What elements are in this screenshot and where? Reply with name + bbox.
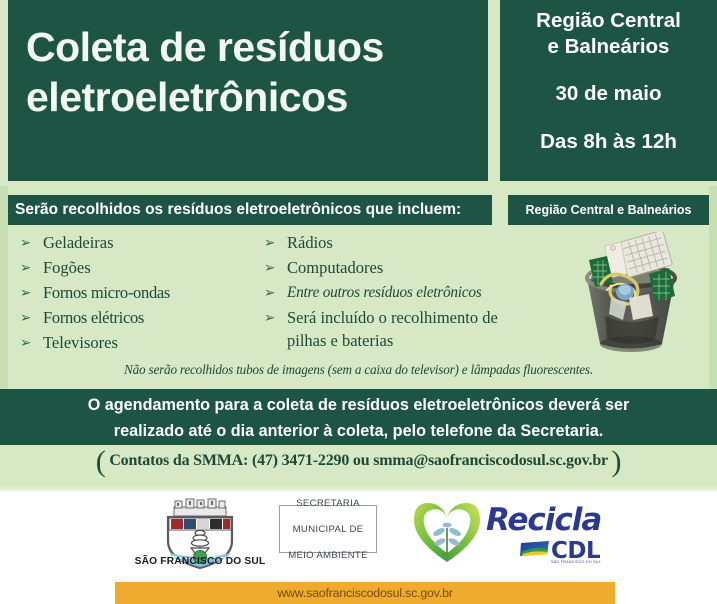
list-item: ➢ Fornos elétricos — [16, 307, 266, 330]
arrow-bullet-icon: ➢ — [20, 332, 31, 354]
secretaria-meio-ambiente-logo: SECRETARIA MUNICIPAL DE MEIO AMBIENTE — [279, 505, 377, 553]
header-hours: Das 8h às 12h — [500, 129, 717, 155]
recicla-logo: Recicla CDL SÃO FRANCISCO DO SUL — [408, 498, 603, 568]
list-item: ➢ Computadores — [260, 257, 560, 280]
list-item: ➢ Entre outros resíduos eletrônicos — [260, 282, 560, 305]
panel-left-edge — [0, 186, 8, 395]
contact-text: Contatos da SMMA: (47) 3471-2290 ou smma… — [109, 452, 607, 469]
list-item-label: Rádios — [287, 233, 333, 252]
disclaimer-text: Não serão recolhidos tubos de imagens (s… — [8, 362, 709, 378]
city-logo-label: SÃO FRANCISCO DO SUL — [120, 556, 280, 567]
arrow-bullet-icon: ➢ — [20, 307, 31, 329]
items-columns: ➢ Geladeiras ➢ Fogões ➢ Fornos micro-ond… — [8, 232, 568, 357]
items-column-right: ➢ Rádios ➢ Computadores ➢ Entre outros r… — [260, 232, 560, 355]
header-date: 30 de maio — [500, 81, 717, 107]
list-item: ➢ Será incluído o recolhimento de pilhas… — [260, 307, 560, 352]
paren-open: ( — [96, 445, 106, 478]
list-item-label: Entre outros resíduos eletrônicos — [287, 284, 481, 301]
region-badge: Região Central e Balneários — [508, 195, 709, 225]
header-region-line1: Região Central — [500, 8, 717, 34]
arrow-bullet-icon: ➢ — [20, 257, 31, 279]
contact-info: ( Contatos da SMMA: (47) 3471-2290 ou sm… — [0, 452, 717, 470]
header-title-panel: Coleta de resíduos eletroeletrônicos — [8, 0, 488, 181]
list-item: ➢ Geladeiras — [16, 232, 266, 255]
paren-close: ) — [611, 445, 621, 478]
page-title-line1: Coleta de resíduos — [26, 22, 476, 72]
page-title: Coleta de resíduos eletroeletrônicos — [26, 22, 476, 122]
cdl-logo: CDL SÃO FRANCISCO DO SUL — [520, 540, 608, 566]
arrow-bullet-icon: ➢ — [264, 282, 275, 304]
items-column-left: ➢ Geladeiras ➢ Fogões ➢ Fornos micro-ond… — [16, 232, 266, 357]
scheduling-notice-line2: realizado até o dia anterior à coleta, p… — [0, 418, 717, 444]
list-item-label-cont: pilhas e baterias — [287, 330, 560, 353]
website-url-bar[interactable]: www.saofranciscodosul.sc.gov.br — [115, 582, 615, 604]
list-item-label: Fogões — [43, 258, 91, 277]
cdl-flag-icon — [520, 540, 550, 560]
recicla-wordmark: Recicla — [486, 502, 601, 538]
header: Coleta de resíduos eletroeletrônicos Reg… — [0, 0, 717, 186]
smma-line3: MEIO AMBIENTE — [288, 549, 368, 562]
arrow-bullet-icon: ➢ — [264, 232, 275, 254]
header-info-panel: Região Central e Balneários 30 de maio D… — [500, 0, 717, 181]
list-item: ➢ Televisores — [16, 332, 266, 355]
smma-line1: SECRETARIA — [288, 497, 368, 510]
list-item-label: Computadores — [287, 258, 383, 277]
smma-line2: MUNICIPAL DE — [288, 523, 368, 536]
arrow-bullet-icon: ➢ — [264, 257, 275, 279]
cdl-subtitle: SÃO FRANCISCO DO SUL — [551, 560, 601, 564]
footer-fade — [0, 487, 717, 493]
header-info-text: Região Central e Balneários 30 de maio D… — [500, 8, 717, 155]
recycle-heart-leaf-icon — [408, 498, 486, 566]
list-item: ➢ Rádios — [260, 232, 560, 255]
arrow-bullet-icon: ➢ — [20, 232, 31, 254]
list-item-label: Geladeiras — [43, 233, 114, 252]
page-title-line2: eletroeletrônicos — [26, 72, 476, 122]
list-item-label: Fornos micro-ondas — [43, 283, 170, 302]
header-region-line2: e Balneários — [500, 34, 717, 60]
arrow-bullet-icon: ➢ — [20, 282, 31, 304]
list-item-label: Televisores — [43, 333, 118, 352]
list-item-label: Será incluído o recolhimento de — [287, 308, 498, 327]
list-item: ➢ Fogões — [16, 257, 266, 280]
electronic-waste-bin-image — [567, 232, 695, 354]
list-item: ➢ Fornos micro-ondas — [16, 282, 266, 305]
scheduling-notice: O agendamento para a coleta de resíduos … — [0, 389, 717, 445]
list-item-label: Fornos elétricos — [43, 308, 144, 327]
panel-right-edge — [709, 186, 717, 395]
scheduling-notice-line1: O agendamento para a coleta de resíduos … — [0, 392, 717, 418]
content-band-title: Serão recolhidos os resíduos eletroeletr… — [8, 195, 492, 225]
arrow-bullet-icon: ➢ — [264, 307, 275, 329]
poster-root: Coleta de resíduos eletroeletrônicos Reg… — [0, 0, 717, 604]
